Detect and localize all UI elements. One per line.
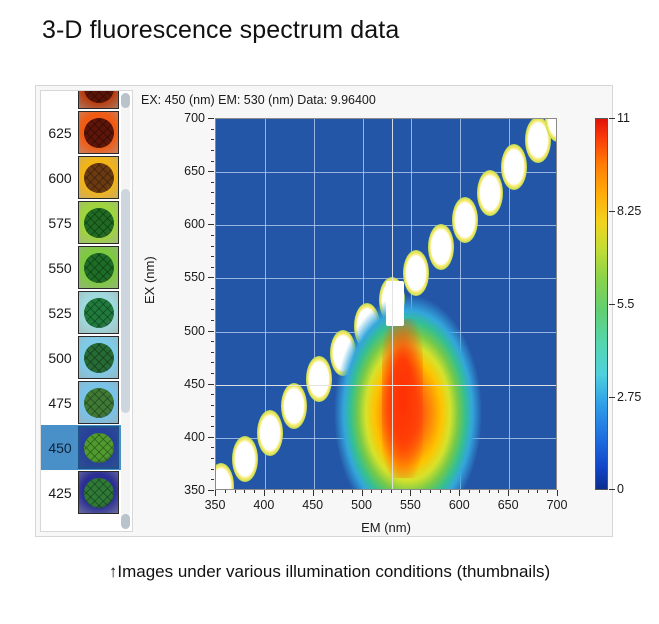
- y-tick-minor: [211, 256, 214, 257]
- scatter-blob: [452, 197, 478, 243]
- plot-container: EX: 450 (nm) EM: 530 (nm) Data: 9.96400 …: [136, 90, 608, 532]
- x-tick-minor: [391, 490, 392, 493]
- y-tick-minor: [211, 416, 214, 417]
- mesh-pattern: [84, 253, 114, 283]
- y-tick-minor: [211, 309, 214, 310]
- x-tick-minor: [450, 490, 451, 493]
- thumbnail-row-425[interactable]: 425: [41, 470, 121, 515]
- sample-disc: [84, 343, 114, 373]
- y-tick-minor: [211, 139, 214, 140]
- y-tick-major: [208, 331, 214, 332]
- thumbnail-row-475[interactable]: 475: [41, 380, 121, 425]
- y-tick-minor: [211, 161, 214, 162]
- scatter-blob: [428, 224, 454, 270]
- sample-disc: [84, 388, 114, 418]
- x-tick-label: 450: [302, 498, 323, 512]
- y-tick-label: 700: [184, 111, 205, 125]
- app-window: 625600575550525500475450425 EX: 450 (nm)…: [35, 85, 613, 537]
- thumbnail-label: 475: [42, 395, 78, 411]
- thumbnail-image[interactable]: [78, 246, 119, 289]
- mesh-pattern: [84, 478, 114, 508]
- colorbar: [595, 118, 608, 490]
- x-tick-minor: [352, 490, 353, 493]
- fluorescence-peak-core: [382, 319, 423, 478]
- x-tick-minor: [381, 490, 382, 493]
- colorbar-tick: [609, 489, 615, 490]
- mesh-pattern: [84, 388, 114, 418]
- y-tick-major: [208, 171, 214, 172]
- y-axis: 350400450500550600650700: [136, 118, 214, 490]
- heatmap-plot-area[interactable]: [215, 118, 557, 490]
- scroll-up-button[interactable]: [121, 93, 130, 108]
- y-tick-minor: [211, 288, 214, 289]
- y-tick-minor: [211, 267, 214, 268]
- y-tick-major: [208, 224, 214, 225]
- y-tick-minor: [211, 214, 214, 215]
- scroll-down-button[interactable]: [121, 514, 130, 529]
- y-tick-label: 450: [184, 377, 205, 391]
- y-tick-minor: [211, 192, 214, 193]
- y-tick-major: [208, 437, 214, 438]
- thumbnail-label: 525: [42, 305, 78, 321]
- page-title: 3-D fluorescence spectrum data: [42, 16, 399, 45]
- y-tick-major: [208, 490, 214, 491]
- x-tick-minor: [332, 490, 333, 493]
- colorbar-tick-label: 5.5: [617, 297, 634, 311]
- x-tick-label: 550: [400, 498, 421, 512]
- x-tick-minor: [537, 490, 538, 493]
- sample-disc: [84, 433, 114, 463]
- y-tick-minor: [211, 341, 214, 342]
- thumbnail-label: 450: [42, 440, 78, 456]
- x-tick-minor: [235, 490, 236, 493]
- y-tick-major: [208, 384, 214, 385]
- thumbnail-label: 550: [42, 260, 78, 276]
- x-tick-minor: [547, 490, 548, 493]
- colorbar-labels: 02.755.58.2511: [609, 118, 659, 490]
- scatter-blob: [257, 410, 283, 456]
- y-tick-label: 550: [184, 270, 205, 284]
- x-tick-label: 600: [449, 498, 470, 512]
- scatter-blob: [306, 356, 332, 402]
- thumbnail-row-450[interactable]: 450: [41, 425, 121, 470]
- x-tick-minor: [274, 490, 275, 493]
- y-tick-minor: [211, 299, 214, 300]
- gridline-horizontal: [216, 225, 556, 226]
- y-axis-title: EX (nm): [142, 256, 157, 304]
- x-tick-minor: [498, 490, 499, 493]
- scrollbar-thumb[interactable]: [121, 189, 130, 413]
- y-tick-minor: [211, 129, 214, 130]
- colorbar-tick: [609, 118, 615, 119]
- thumbnail-image[interactable]: [78, 426, 119, 469]
- x-axis-title: EM (nm): [361, 520, 411, 535]
- y-tick-minor: [211, 447, 214, 448]
- y-tick-minor: [211, 479, 214, 480]
- scatter-blob: [232, 436, 258, 482]
- y-tick-minor: [211, 405, 214, 406]
- mesh-pattern: [84, 343, 114, 373]
- thumbnail-row-650[interactable]: [41, 90, 121, 110]
- x-tick-major: [459, 490, 460, 496]
- y-tick-label: 650: [184, 164, 205, 178]
- thumbnail-image[interactable]: [78, 156, 119, 199]
- colorbar-tick-label: 8.25: [617, 204, 641, 218]
- scatter-blob: [281, 383, 307, 429]
- thumbnail-image[interactable]: [78, 381, 119, 424]
- thumbnail-row-575[interactable]: 575: [41, 200, 121, 245]
- y-tick-minor: [211, 352, 214, 353]
- x-tick-major: [362, 490, 363, 496]
- sample-disc: [84, 163, 114, 193]
- x-tick-minor: [244, 490, 245, 493]
- x-tick-label: 500: [351, 498, 372, 512]
- y-tick-minor: [211, 362, 214, 363]
- x-axis: 350400450500550600650700: [215, 490, 557, 516]
- x-tick-label: 650: [498, 498, 519, 512]
- y-tick-label: 400: [184, 430, 205, 444]
- thumbnail-scrollbar[interactable]: [121, 93, 130, 529]
- mesh-pattern: [84, 118, 114, 148]
- y-tick-minor: [211, 320, 214, 321]
- colorbar-tick: [609, 397, 615, 398]
- y-tick-minor: [211, 203, 214, 204]
- sample-disc: [84, 90, 114, 103]
- x-tick-minor: [420, 490, 421, 493]
- sample-disc: [84, 208, 114, 238]
- mesh-pattern: [84, 163, 114, 193]
- x-tick-major: [264, 490, 265, 496]
- x-tick-minor: [401, 490, 402, 493]
- colorbar-tick: [609, 211, 615, 212]
- sample-disc: [84, 118, 114, 148]
- y-tick-major: [208, 277, 214, 278]
- x-tick-minor: [479, 490, 480, 493]
- sample-disc: [84, 298, 114, 328]
- colorbar-tick: [609, 304, 615, 305]
- thumbnail-image[interactable]: [78, 90, 119, 109]
- colorbar-tick-label: 11: [617, 111, 630, 125]
- x-tick-minor: [225, 490, 226, 493]
- y-tick-label: 350: [184, 483, 205, 497]
- y-tick-minor: [211, 150, 214, 151]
- x-tick-minor: [283, 490, 284, 493]
- mesh-pattern: [84, 433, 114, 463]
- thumbnail-row-500[interactable]: 500: [41, 335, 121, 380]
- x-tick-major: [508, 490, 509, 496]
- thumbnail-label: 600: [42, 170, 78, 186]
- thumbnail-image[interactable]: [78, 291, 119, 334]
- saturated-region: [386, 281, 404, 327]
- x-tick-minor: [303, 490, 304, 493]
- thumbnail-label: 625: [42, 125, 78, 141]
- y-tick-minor: [211, 373, 214, 374]
- x-tick-minor: [489, 490, 490, 493]
- mesh-pattern: [84, 298, 114, 328]
- x-tick-label: 350: [205, 498, 226, 512]
- scatter-blob: [215, 463, 234, 490]
- thumbnail-image[interactable]: [78, 201, 119, 244]
- x-tick-minor: [293, 490, 294, 493]
- thumbnail-row-550[interactable]: 550: [41, 245, 121, 290]
- thumbnail-panel[interactable]: 625600575550525500475450425: [40, 90, 133, 532]
- x-tick-minor: [440, 490, 441, 493]
- thumbnail-row-525[interactable]: 525: [41, 290, 121, 335]
- x-tick-minor: [254, 490, 255, 493]
- x-tick-label: 400: [253, 498, 274, 512]
- y-tick-minor: [211, 426, 214, 427]
- x-tick-minor: [342, 490, 343, 493]
- gridline-vertical: [314, 119, 315, 489]
- thumbnail-row-600[interactable]: 600: [41, 155, 121, 200]
- y-tick-minor: [211, 246, 214, 247]
- scatter-blob: [501, 144, 527, 190]
- y-tick-minor: [211, 458, 214, 459]
- thumbnail-image[interactable]: [78, 336, 119, 379]
- x-tick-minor: [371, 490, 372, 493]
- mesh-pattern: [84, 90, 114, 103]
- y-tick-label: 600: [184, 217, 205, 231]
- sample-disc: [84, 253, 114, 283]
- thumbnail-image[interactable]: [78, 111, 119, 154]
- crosshair-vertical: [392, 119, 393, 489]
- x-tick-minor: [322, 490, 323, 493]
- x-tick-minor: [469, 490, 470, 493]
- colorbar-tick-label: 2.75: [617, 390, 641, 404]
- colorbar-tick-label: 0: [617, 482, 624, 496]
- mesh-pattern: [84, 208, 114, 238]
- x-tick-minor: [518, 490, 519, 493]
- thumbnail-label: 425: [42, 485, 78, 501]
- thumbnail-image[interactable]: [78, 471, 119, 514]
- x-tick-major: [557, 490, 558, 496]
- thumbnail-row-625[interactable]: 625: [41, 110, 121, 155]
- x-tick-minor: [528, 490, 529, 493]
- y-tick-label: 500: [184, 324, 205, 338]
- thumbnail-label: 575: [42, 215, 78, 231]
- x-tick-major: [215, 490, 216, 496]
- y-tick-minor: [211, 469, 214, 470]
- y-tick-minor: [211, 394, 214, 395]
- thumbnail-label: 500: [42, 350, 78, 366]
- y-tick-minor: [211, 235, 214, 236]
- scatter-blob: [477, 170, 503, 216]
- thumbnail-list: 625600575550525500475450425: [41, 90, 121, 515]
- x-tick-minor: [430, 490, 431, 493]
- status-readout: EX: 450 (nm) EM: 530 (nm) Data: 9.96400: [141, 93, 376, 107]
- figure-caption: ↑Images under various illumination condi…: [109, 562, 550, 582]
- x-tick-label: 700: [547, 498, 568, 512]
- x-tick-major: [410, 490, 411, 496]
- y-tick-major: [208, 118, 214, 119]
- crosshair-horizontal: [216, 385, 556, 386]
- x-tick-major: [313, 490, 314, 496]
- sample-disc: [84, 478, 114, 508]
- y-tick-minor: [211, 182, 214, 183]
